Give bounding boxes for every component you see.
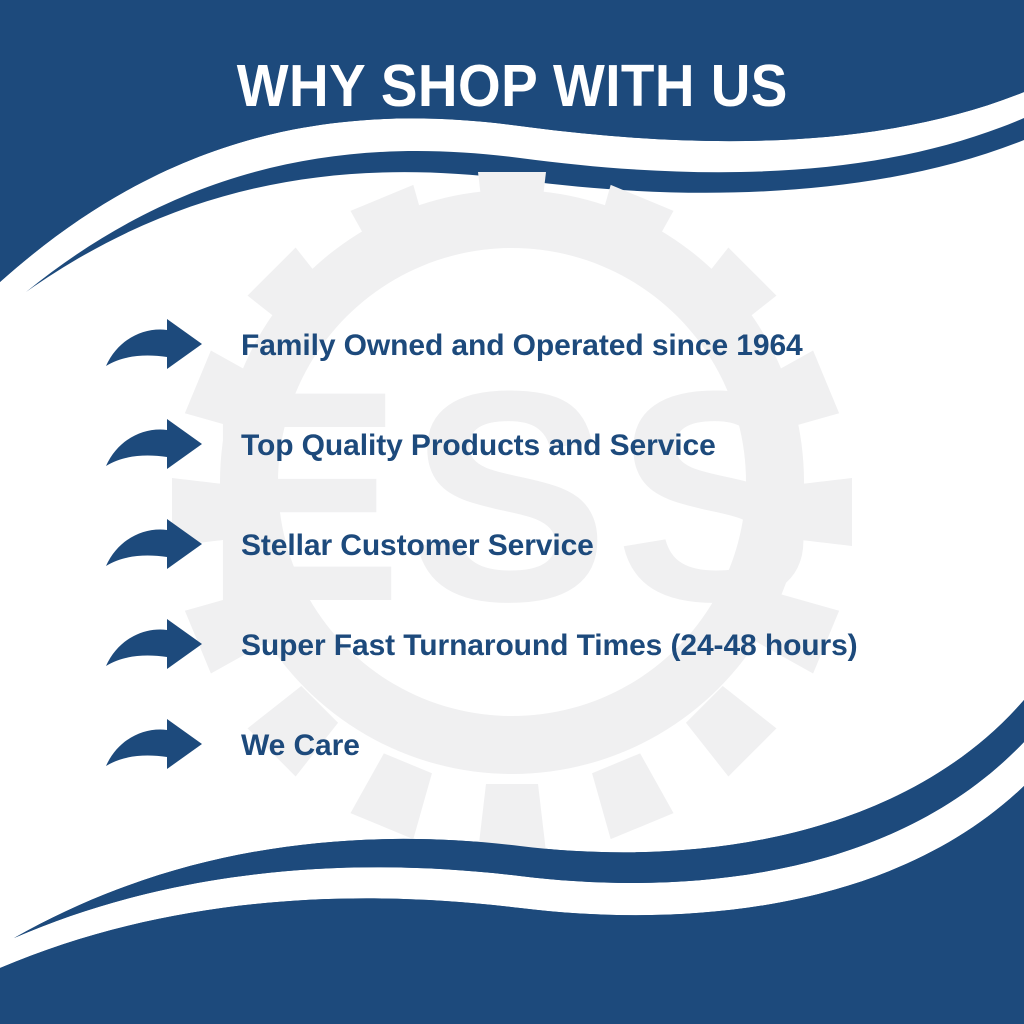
list-item: Super Fast Turnaround Times (24-48 hours… bbox=[104, 595, 1004, 695]
list-item-label: Super Fast Turnaround Times (24-48 hours… bbox=[241, 629, 1004, 662]
title-container: WHY SHOP WITH US bbox=[0, 16, 1024, 157]
list-item-label: We Care bbox=[241, 729, 1004, 762]
list-item: Top Quality Products and Service bbox=[104, 395, 1004, 495]
curved-arrow-right-icon bbox=[104, 418, 204, 472]
list-item-label: Top Quality Products and Service bbox=[241, 429, 1004, 462]
curved-arrow-right-icon bbox=[104, 518, 204, 572]
list-item: Family Owned and Operated since 1964 bbox=[104, 295, 1004, 395]
curved-arrow-right-icon bbox=[104, 318, 204, 372]
why-shop-with-us-poster: ESS WHY SHOP WITH US Family Owned and Op… bbox=[0, 0, 1024, 1024]
benefits-list: Family Owned and Operated since 1964 Top… bbox=[104, 295, 1004, 795]
page-title: WHY SHOP WITH US bbox=[236, 56, 787, 118]
blue-wave-band-bottom bbox=[0, 786, 1024, 1024]
curved-arrow-right-icon bbox=[104, 718, 204, 772]
blue-wave-band-bottom-edge bbox=[0, 786, 1024, 1024]
list-item: Stellar Customer Service bbox=[104, 495, 1004, 595]
list-item-label: Family Owned and Operated since 1964 bbox=[241, 329, 1004, 362]
list-item-label: Stellar Customer Service bbox=[241, 529, 1004, 562]
curved-arrow-right-icon bbox=[104, 618, 204, 672]
list-item: We Care bbox=[104, 695, 1004, 795]
